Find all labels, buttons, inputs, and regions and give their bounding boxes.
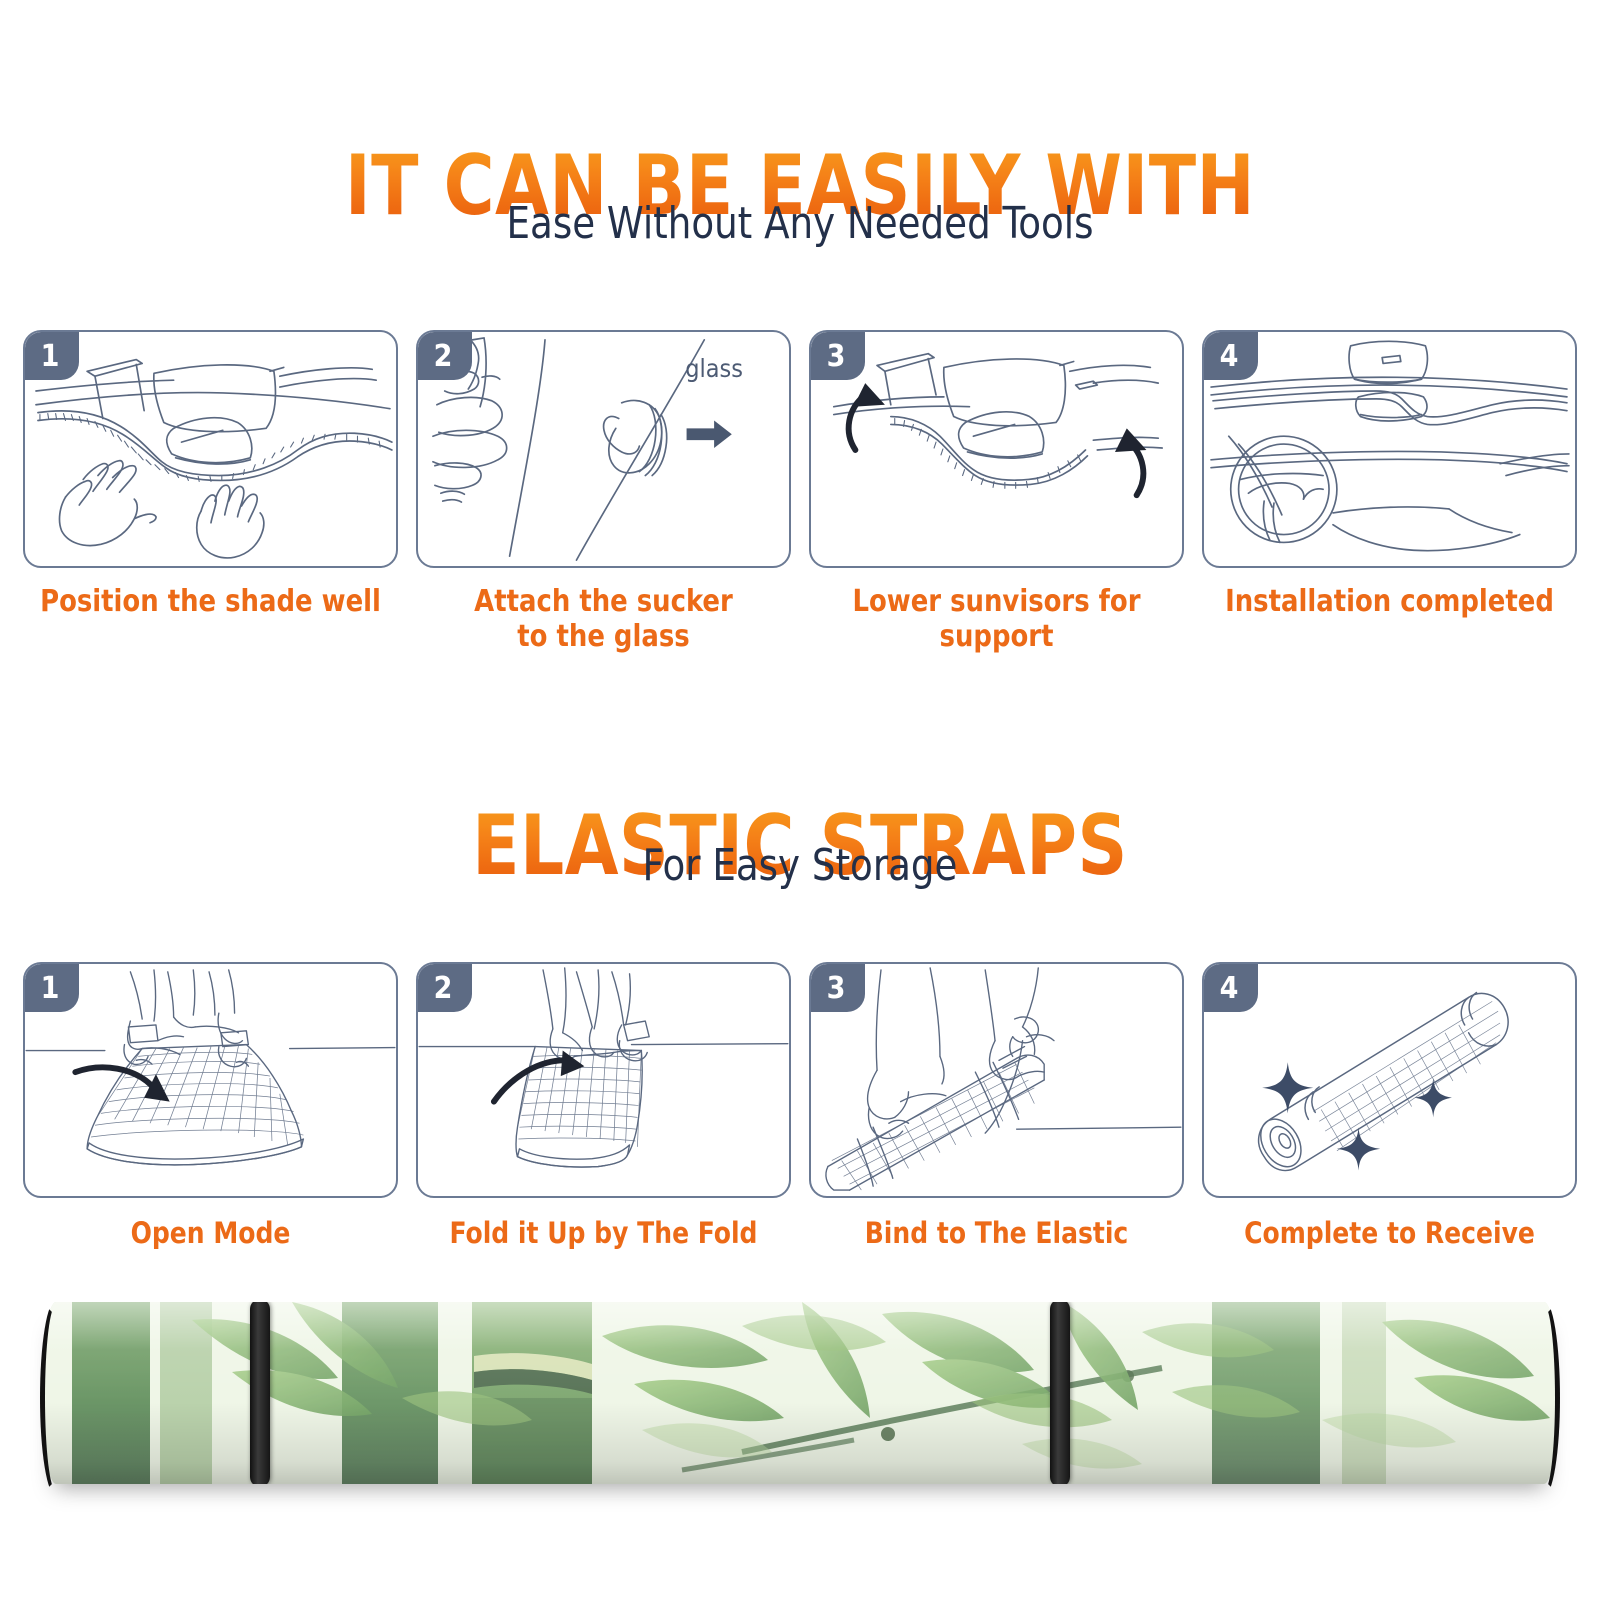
- step-badge: 1: [25, 964, 79, 1012]
- install-step-2-frame: glass 2: [416, 330, 791, 568]
- install-step-1: 1 Position the shade well: [23, 330, 398, 655]
- elastic-strap-left: [250, 1302, 270, 1484]
- installed-shade-interior-illustration: [1204, 332, 1575, 566]
- step-badge: 2: [418, 964, 472, 1012]
- storage-step-1-frame: 1: [23, 962, 398, 1198]
- storage-step-4-frame: 4: [1202, 962, 1577, 1198]
- install-step-3-caption: Lower sunvisors for support: [817, 584, 1177, 655]
- elastic-strap-right: [1050, 1302, 1070, 1484]
- storage-step-3: 3 Bind to The Elastic: [809, 962, 1184, 1250]
- storage-step-3-caption: Bind to The Elastic: [817, 1216, 1177, 1250]
- section-subtitle-elastic-straps: For Easy Storage: [48, 840, 1552, 891]
- roll-end-left: [40, 1300, 72, 1496]
- install-step-3-frame: 3: [809, 330, 1184, 568]
- step-badge: 3: [811, 964, 865, 1012]
- storage-step-2: 2 Fold it Up by The Fold: [416, 962, 791, 1250]
- install-step-2: glass 2 Attach the sucker to the glass: [416, 330, 791, 655]
- step-badge: 4: [1204, 964, 1258, 1012]
- fold-up-illustration: [418, 964, 789, 1196]
- install-step-2-caption: Attach the sucker to the glass: [424, 584, 784, 655]
- rolled-shade-illustration: [1204, 964, 1575, 1196]
- install-step-1-frame: 1: [23, 330, 398, 568]
- step-badge: 3: [811, 332, 865, 380]
- page-subtitle: Ease Without Any Needed Tools: [48, 198, 1552, 249]
- storage-step-3-frame: 3: [809, 962, 1184, 1198]
- storage-steps-row: 1 Open Mode: [0, 962, 1600, 1250]
- storage-step-1-caption: Open Mode: [31, 1216, 391, 1250]
- step-badge: 1: [25, 332, 79, 380]
- install-step-4-caption: Installation completed: [1210, 584, 1570, 619]
- storage-step-2-frame: 2: [416, 962, 791, 1198]
- product-photo: [0, 1302, 1600, 1498]
- storage-step-4: 4 Complete to Receive: [1202, 962, 1577, 1250]
- install-step-1-caption: Position the shade well: [31, 584, 391, 619]
- install-step-4: 4 Installation completed: [1202, 330, 1577, 655]
- step-badge: 2: [418, 332, 472, 380]
- install-step-3: 3 Lower sunvisors for support: [809, 330, 1184, 655]
- installation-steps-row: 1 Position the shade well: [0, 330, 1600, 655]
- roll-end-right: [1528, 1300, 1560, 1496]
- bind-elastic-illustration: [811, 964, 1182, 1196]
- step-badge: 4: [1204, 332, 1258, 380]
- infographic-page: IT CAN BE EASILY WITH Ease Without Any N…: [0, 0, 1600, 1600]
- lower-sunvisors-illustration: [811, 332, 1182, 566]
- storage-step-4-caption: Complete to Receive: [1210, 1216, 1570, 1250]
- install-step-4-frame: 4: [1202, 330, 1577, 568]
- glass-annotation-label: glass: [685, 354, 743, 383]
- rolled-sunshade: [42, 1302, 1558, 1484]
- car-dashboard-shade-illustration: [25, 332, 396, 566]
- storage-step-1: 1 Open Mode: [23, 962, 398, 1250]
- open-mode-illustration: [25, 964, 396, 1196]
- storage-step-2-caption: Fold it Up by The Fold: [424, 1216, 784, 1250]
